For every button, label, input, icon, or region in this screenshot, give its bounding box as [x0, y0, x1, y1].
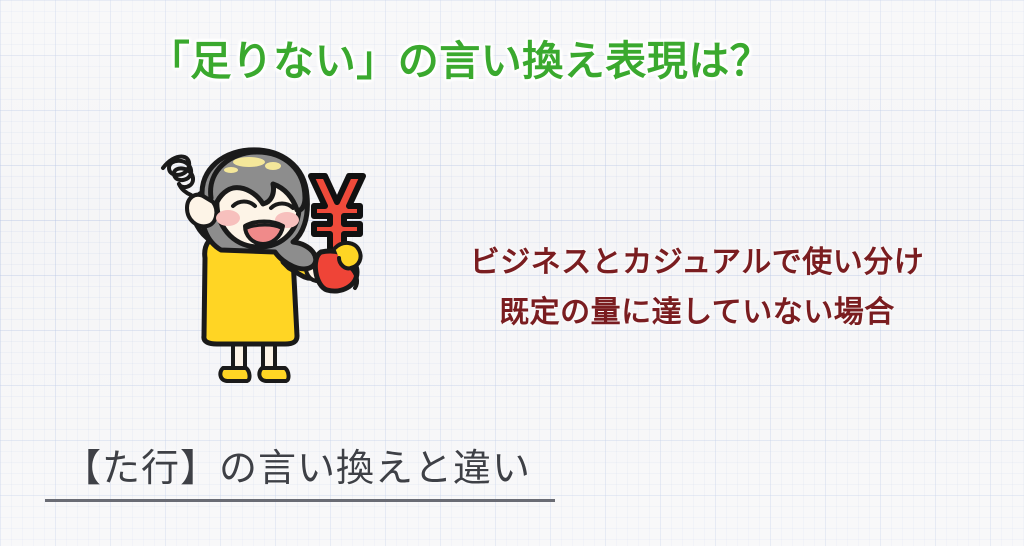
- yen-symbol-icon: [311, 176, 363, 254]
- subtitle-block: ビジネスとカジュアルで使い分け 既定の量に達していない場合: [430, 238, 964, 337]
- subtitle-line-2: 既定の量に達していない場合: [430, 288, 964, 338]
- caption-text: 【た行】の言い換えと違い: [45, 446, 557, 494]
- caption-underline: [45, 499, 555, 502]
- subtitle-line-1: ビジネスとカジュアルで使い分け: [430, 238, 964, 288]
- slide-canvas: 「足りない」の言い換え表現は？: [0, 0, 1024, 546]
- page-title: 「足りない」の言い換え表現は？: [0, 38, 920, 85]
- coin-purse: [315, 243, 360, 291]
- caption-block: 【た行】の言い換えと違い: [45, 446, 557, 502]
- illustration-worried-woman: [145, 140, 395, 395]
- distress-squiggle-icon: [163, 157, 193, 196]
- left-hand-on-head: [187, 195, 216, 227]
